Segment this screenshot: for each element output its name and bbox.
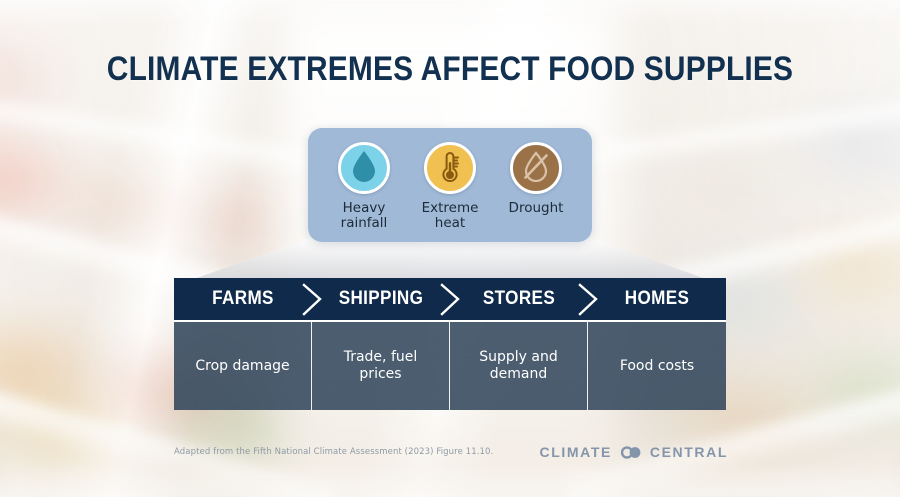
no-water-icon [521, 150, 551, 187]
chain-impact-homes: Food costs [588, 322, 726, 410]
logo-text-left: CLIMATE [540, 444, 612, 460]
chevron-right-icon [304, 285, 320, 314]
infographic-stage: CLIMATE EXTREMES AFFECT FOOD SUPPLIES [0, 0, 900, 497]
hazard-item-extreme-heat[interactable]: Extreme heat [410, 142, 490, 231]
two-circles-icon [619, 446, 643, 459]
hazard-icon-badge [510, 142, 562, 194]
page-title: CLIMATE EXTREMES AFFECT FOOD SUPPLIES [54, 50, 846, 89]
chevron-right-icon [442, 285, 458, 314]
climate-central-logo[interactable]: CLIMATE CENTRAL [540, 444, 728, 460]
chain-stage-stores[interactable]: STORES [457, 278, 581, 320]
thermometer-icon [437, 149, 463, 188]
logo-text-right: CENTRAL [650, 444, 728, 460]
supply-chain-diagram: FARMS SHIPPING STORES HOMES Crop damage [174, 278, 726, 410]
hazard-panel: Heavy rainfall [308, 128, 592, 242]
hazard-item-drought[interactable]: Drought [496, 142, 576, 216]
hazard-icon-badge [338, 142, 390, 194]
hazard-item-heavy-rainfall[interactable]: Heavy rainfall [324, 142, 404, 231]
hazard-label: Extreme heat [422, 201, 479, 231]
hazard-icon-badge [424, 142, 476, 194]
background-top-band [0, 0, 900, 26]
chain-impact-farms: Crop damage [174, 322, 312, 410]
chain-stage-homes[interactable]: HOMES [595, 278, 719, 320]
source-attribution: Adapted from the Fifth National Climate … [174, 447, 493, 457]
chain-impact-shipping: Trade, fuelprices [312, 322, 450, 410]
chevron-right-icon [580, 285, 596, 314]
hazard-label: Heavy rainfall [341, 201, 388, 231]
chain-stage-farms[interactable]: FARMS [181, 278, 305, 320]
hazard-label: Drought [509, 201, 564, 216]
water-drop-icon [351, 150, 377, 187]
supply-chain-header-row: FARMS SHIPPING STORES HOMES [174, 278, 726, 320]
supply-chain-impact-row: Crop damage Trade, fuelprices Supply and… [174, 320, 726, 410]
background-bottom-band [0, 463, 900, 497]
chain-stage-shipping[interactable]: SHIPPING [319, 278, 443, 320]
chain-impact-stores: Supply anddemand [450, 322, 588, 410]
